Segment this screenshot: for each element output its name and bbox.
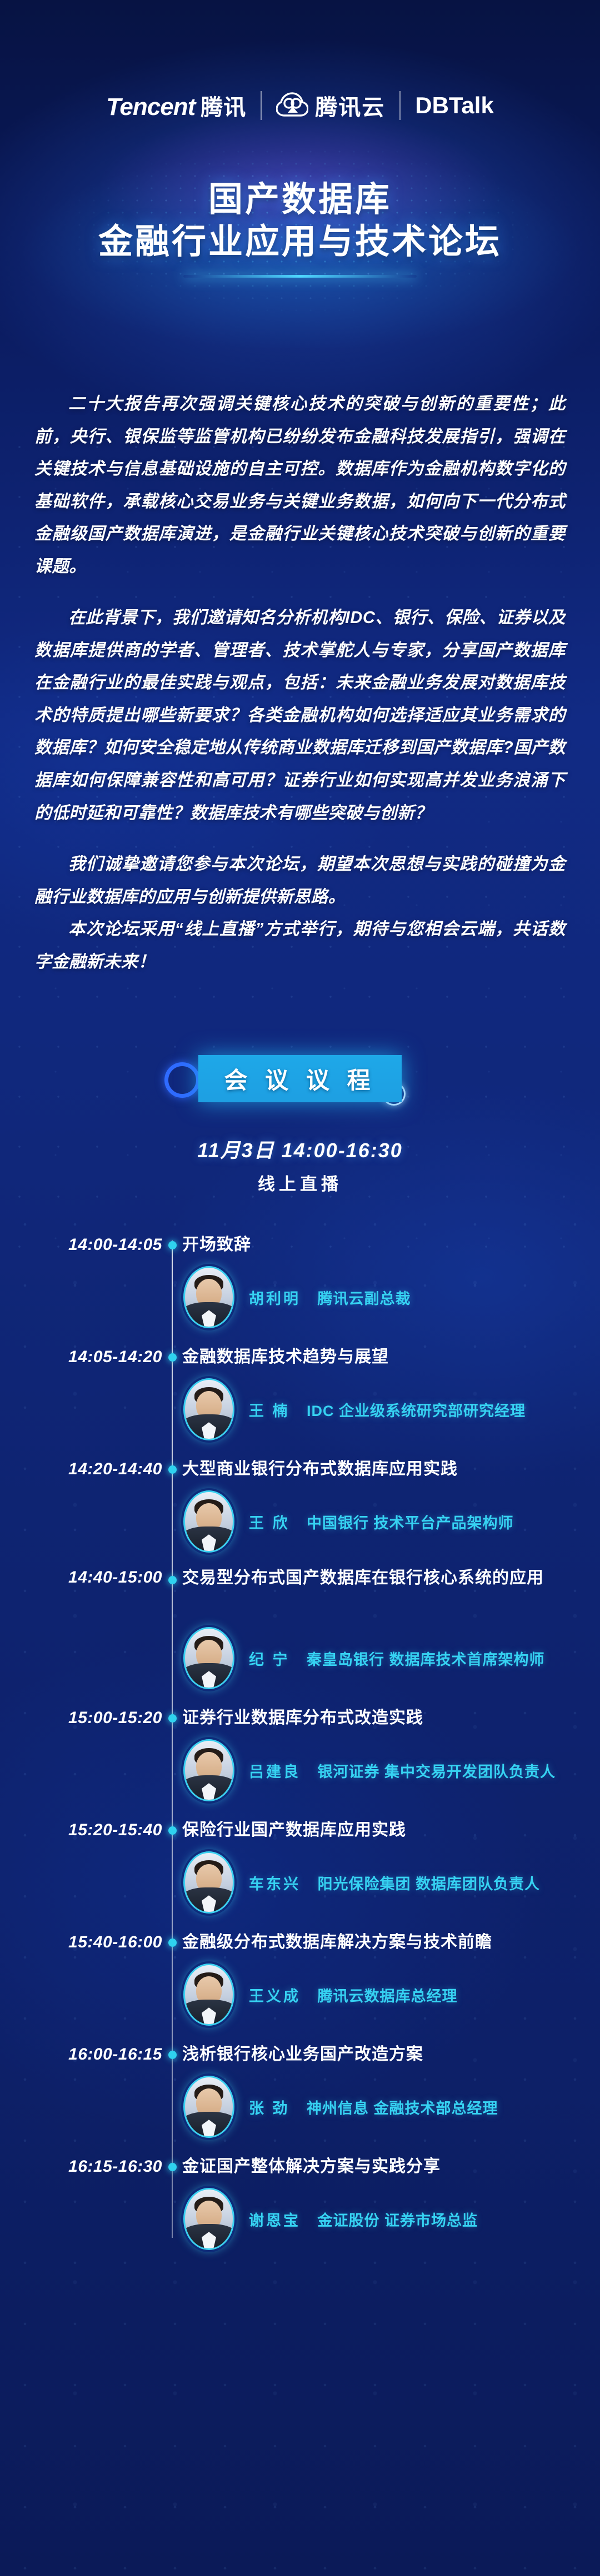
hero-glow-bar [183,275,417,278]
speaker-avatar [183,1739,234,1801]
intro-copy: 二十大报告再次强调关键核心技术的突破与创新的重要性；此前，央行、银保监等监管机构… [0,348,600,978]
decor-ring-left-icon [164,1062,200,1098]
session-speaker: 王义成 腾讯云数据库总经理 [183,1964,600,2026]
intro-paragraph-4: 本次论坛采用“线上直播”方式举行，期待与您相会云端，共话数字金融新未来！ [34,913,566,978]
speaker-name: 王义成 [249,1988,301,2005]
hero-banner: 国产数据库 金融行业应用与技术论坛 [0,109,600,348]
session-time: 16:15-16:30 [0,2157,162,2176]
speaker-name: 车东兴 [249,1876,301,1892]
hero-title-line1: 国产数据库 [208,179,392,221]
session-speaker: 王 楠 IDC 企业级系统研究部研究经理 [183,1378,600,1440]
timeline-dot-icon [162,1826,182,1835]
speaker-name: 谢恩宝 [249,2212,301,2229]
speaker-avatar [183,2188,234,2250]
speaker-role: 腾讯云副总裁 [318,1290,411,1307]
logo-bar: Tencent 腾讯 腾讯云 DBTalk [0,0,600,106]
speaker-info: 吕建良 银河证券 集中交易开发团队负责人 [249,1760,556,1781]
agenda-timeline: 14:00-14:05 开场致辞 胡利明 腾讯云副总裁 14:05-14:20 … [0,1232,600,2304]
session-speaker: 王 欣 中国银行 技术平台产品架构师 [183,1490,600,1553]
speaker-name: 胡利明 [249,1290,301,1307]
session-title: 浅析银行核心业务国产改造方案 [182,2043,600,2066]
timeline-dot-icon [162,1939,182,1947]
session-speaker: 纪 宁 秦皇岛银行 数据库技术首席架构师 [183,1627,600,1689]
session-title: 金证国产整体解决方案与实践分享 [182,2156,600,2178]
speaker-info: 车东兴 阳光保险集团 数据库团队负责人 [249,1872,540,1894]
timeline-dot-icon [162,1714,182,1723]
session-time: 15:20-15:40 [0,1821,162,1840]
agenda-datetime-block: 11月3日 14:00-16:30 线上直播 [0,1134,600,1195]
speaker-name: 吕建良 [249,1764,301,1780]
agenda-datetime: 11月3日 14:00-16:30 [0,1134,600,1163]
session-time: 14:20-14:40 [0,1460,162,1479]
speaker-info: 王 楠 IDC 企业级系统研究部研究经理 [249,1399,526,1420]
session-title: 交易型分布式国产数据库在银行核心系统的应用 [182,1567,600,1589]
speaker-avatar [183,2076,234,2138]
speaker-info: 谢恩宝 金证股份 证券市场总监 [249,2208,478,2230]
speaker-name: 纪 宁 [249,1651,290,1668]
timeline-dot-icon [162,1353,182,1362]
session-time: 14:00-14:05 [0,1236,162,1254]
agenda-section-header: 会 议 议 程 [0,1031,600,1126]
speaker-role: 阳光保险集团 数据库团队负责人 [318,1876,541,1892]
speaker-info: 张 劲 神州信息 金融技术部总经理 [249,2096,498,2118]
timeline-dot-icon [162,1241,182,1249]
agenda-session[interactable]: 16:15-16:30 金证国产整体解决方案与实践分享 谢恩宝 金证股份 证券市… [0,2153,600,2250]
speaker-role: 神州信息 金融技术部总经理 [307,2100,498,2117]
agenda-session[interactable]: 14:40-15:00 交易型分布式国产数据库在银行核心系统的应用 纪 宁 秦皇… [0,1568,600,1689]
session-title: 开场致辞 [182,1234,600,1256]
session-title: 保险行业国产数据库应用实践 [182,1819,600,1841]
timeline-dot-icon [162,1568,182,1591]
agenda-session[interactable]: 14:05-14:20 金融数据库技术趋势与展望 王 楠 IDC 企业级系统研究… [0,1344,600,1440]
speaker-role: IDC 企业级系统研究部研究经理 [307,1403,526,1419]
agenda-session[interactable]: 15:20-15:40 保险行业国产数据库应用实践 车东兴 阳光保险集团 数据库… [0,1817,600,1914]
session-title: 金融数据库技术趋势与展望 [182,1346,600,1368]
timeline-dot-icon [162,2051,182,2059]
speaker-role: 银河证券 集中交易开发团队负责人 [318,1764,556,1780]
session-speaker: 谢恩宝 金证股份 证券市场总监 [183,2188,600,2250]
poster-root: Tencent 腾讯 腾讯云 DBTalk 国产数据库 金融行业应用与技术论坛 [0,0,600,2576]
speaker-role: 腾讯云数据库总经理 [318,1988,458,2005]
session-title: 证券行业数据库分布式改造实践 [182,1707,600,1729]
timeline-dot-icon [162,2163,182,2171]
hero-title-line2: 金融行业应用与技术论坛 [98,221,502,263]
speaker-avatar [183,1627,234,1689]
speaker-role: 秦皇岛银行 数据库技术首席架构师 [307,1651,545,1668]
session-time: 14:40-15:00 [0,1568,162,1587]
speaker-avatar [183,1851,234,1914]
session-speaker: 车东兴 阳光保险集团 数据库团队负责人 [183,1851,600,1914]
speaker-info: 纪 宁 秦皇岛银行 数据库技术首席架构师 [249,1648,545,1669]
agenda-format: 线上直播 [0,1170,600,1195]
agenda-session[interactable]: 15:40-16:00 金融级分布式数据库解决方案与技术前瞻 王义成 腾讯云数据… [0,1929,600,2026]
session-time: 15:00-15:20 [0,1709,162,1728]
speaker-avatar [183,1490,234,1553]
speaker-info: 胡利明 腾讯云副总裁 [249,1287,411,1308]
session-title: 大型商业银行分布式数据库应用实践 [182,1458,600,1480]
speaker-avatar [183,1964,234,2026]
session-speaker: 张 劲 神州信息 金融技术部总经理 [183,2076,600,2138]
speaker-role: 金证股份 证券市场总监 [318,2212,478,2229]
speaker-info: 王 欣 中国银行 技术平台产品架构师 [249,1511,514,1533]
session-speaker: 胡利明 腾讯云副总裁 [183,1266,600,1328]
session-time: 15:40-16:00 [0,1933,162,1952]
session-title: 金融级分布式数据库解决方案与技术前瞻 [182,1931,600,1954]
intro-paragraph-2: 在此背景下，我们邀请知名分析机构IDC、银行、保险、证券以及数据库提供商的学者、… [34,601,566,829]
agenda-session[interactable]: 15:00-15:20 证券行业数据库分布式改造实践 吕建良 银河证券 集中交易… [0,1705,600,1801]
speaker-name: 王 楠 [249,1403,290,1419]
speaker-info: 王义成 腾讯云数据库总经理 [249,1984,458,2006]
agenda-session[interactable]: 16:00-16:15 浅析银行核心业务国产改造方案 张 劲 神州信息 金融技术… [0,2041,600,2138]
session-time: 14:05-14:20 [0,1348,162,1367]
intro-paragraph-1: 二十大报告再次强调关键核心技术的突破与创新的重要性；此前，央行、银保监等监管机构… [34,388,566,583]
speaker-name: 张 劲 [249,2100,290,2117]
speaker-name: 王 欣 [249,1515,290,1531]
speaker-role: 中国银行 技术平台产品架构师 [307,1515,514,1531]
session-speaker: 吕建良 银河证券 集中交易开发团队负责人 [183,1739,600,1801]
agenda-chip: 会 议 议 程 [198,1055,401,1102]
speaker-avatar [183,1266,234,1328]
intro-paragraph-3: 我们诚挚邀请您参与本次论坛，期望本次思想与实践的碰撞为金融行业数据库的应用与创新… [34,848,566,913]
timeline-dot-icon [162,1465,182,1474]
agenda-session[interactable]: 14:20-14:40 大型商业银行分布式数据库应用实践 王 欣 中国银行 技术… [0,1456,600,1553]
agenda-session[interactable]: 14:00-14:05 开场致辞 胡利明 腾讯云副总裁 [0,1232,600,1328]
speaker-avatar [183,1378,234,1440]
agenda-section-label: 会 议 议 程 [224,1067,376,1093]
session-time: 16:00-16:15 [0,2045,162,2064]
